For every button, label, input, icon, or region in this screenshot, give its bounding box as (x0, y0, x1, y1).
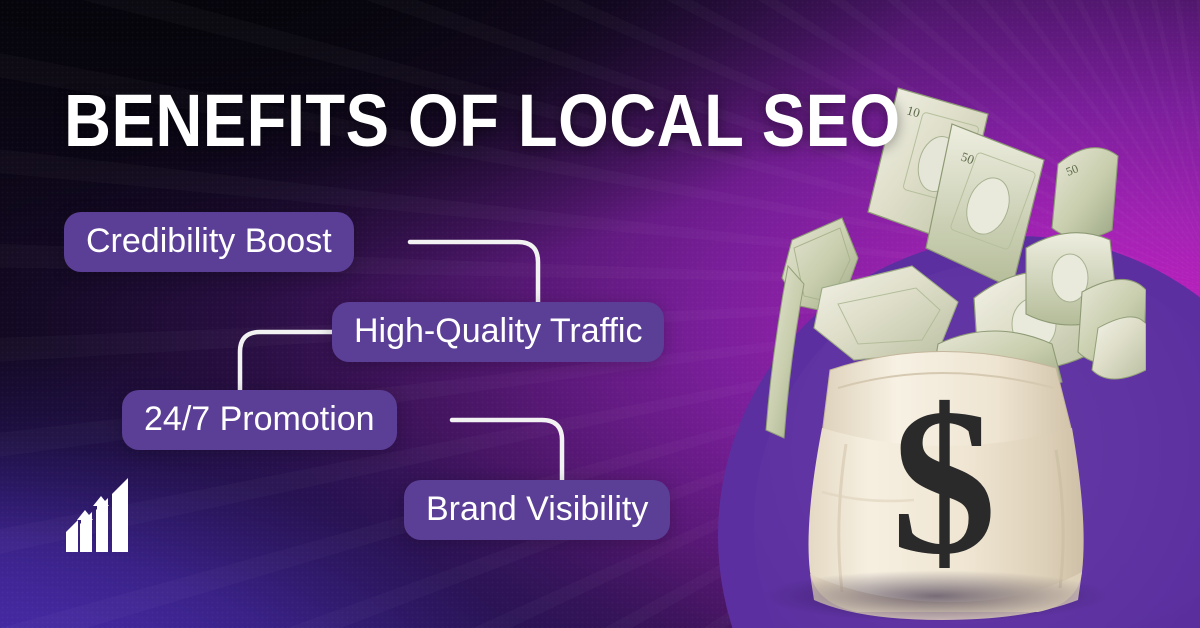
benefit-label: 24/7 Promotion (144, 402, 375, 436)
page-title: BENEFITS OF LOCAL SEO (64, 84, 901, 158)
svg-text:$: $ (892, 366, 997, 598)
social-card-canvas: 10 50 100 50 (0, 0, 1200, 628)
benefit-pill-traffic[interactable]: High-Quality Traffic (332, 302, 664, 362)
benefit-pill-promotion[interactable]: 24/7 Promotion (122, 390, 397, 450)
benefit-label: High-Quality Traffic (354, 314, 642, 348)
benefit-label: Brand Visibility (426, 492, 648, 526)
benefit-pill-brand[interactable]: Brand Visibility (404, 480, 670, 540)
benefit-pill-credibility[interactable]: Credibility Boost (64, 212, 354, 272)
money-bag-shadow (760, 570, 1112, 622)
ascending-bars-arrows-icon (62, 476, 144, 558)
dollar-sign-mark: $ (892, 366, 997, 598)
benefit-label: Credibility Boost (86, 224, 332, 258)
brand-logo[interactable] (62, 476, 144, 558)
